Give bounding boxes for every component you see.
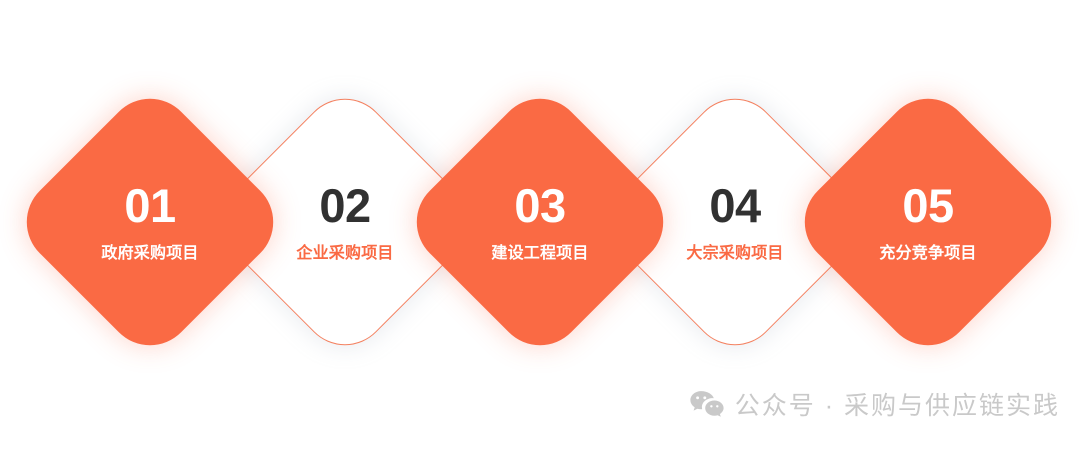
wechat-icon bbox=[690, 390, 724, 418]
infographic-canvas: 02 企业采购项目 04 大宗采购项目 01 政府采购项目 03 bbox=[0, 0, 1080, 454]
diamond-step-5[interactable]: 05 充分竞争项目 bbox=[828, 122, 1028, 322]
watermark-text: 公众号 · 采购与供应链实践 bbox=[735, 386, 1060, 422]
diamond-step-2[interactable]: 02 企业采购项目 bbox=[245, 122, 445, 322]
diamond-step-3[interactable]: 03 建设工程项目 bbox=[440, 122, 640, 322]
diamond-shape-1 bbox=[9, 81, 292, 364]
watermark: 公众号 · 采购与供应链实践 bbox=[690, 386, 1060, 422]
diamond-shape-3 bbox=[399, 81, 682, 364]
diamond-step-1[interactable]: 01 政府采购项目 bbox=[50, 122, 250, 322]
diamond-shape-5 bbox=[787, 81, 1070, 364]
